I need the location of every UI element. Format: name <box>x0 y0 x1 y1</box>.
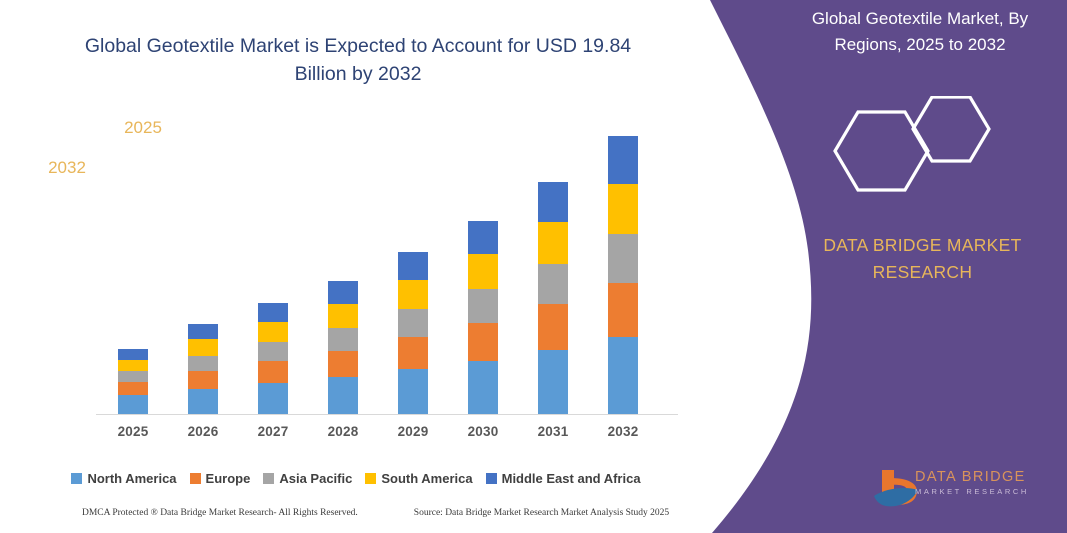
bar-segment[interactable] <box>328 328 358 352</box>
legend-swatch-icon <box>365 473 376 484</box>
bar-segment[interactable] <box>118 395 148 414</box>
bar-segment[interactable] <box>118 382 148 395</box>
x-axis-label-2027: 2027 <box>238 424 308 439</box>
bar-segment[interactable] <box>468 254 498 289</box>
bar-segment[interactable] <box>188 389 218 414</box>
legend-swatch-icon <box>190 473 201 484</box>
bar-segment[interactable] <box>538 222 568 264</box>
x-axis-label-2028: 2028 <box>308 424 378 439</box>
bar-segment[interactable] <box>398 337 428 369</box>
bar-segment[interactable] <box>608 337 638 414</box>
legend-item[interactable]: Asia Pacific <box>263 471 352 486</box>
bar-segment[interactable] <box>538 264 568 304</box>
legend-label: Asia Pacific <box>279 471 352 486</box>
bar-segment[interactable] <box>328 377 358 414</box>
infographic-slide: Global Geotextile Market is Expected to … <box>0 0 1067 533</box>
legend-swatch-icon <box>71 473 82 484</box>
bar-column-2026[interactable] <box>188 324 218 414</box>
bar-column-2031[interactable] <box>538 182 568 414</box>
bar-segment[interactable] <box>328 281 358 304</box>
bar-segment[interactable] <box>118 371 148 382</box>
logo-subtitle: MARKET RESEARCH <box>915 486 1050 498</box>
bar-segment[interactable] <box>398 309 428 337</box>
x-axis-label-2032: 2032 <box>588 424 658 439</box>
bar-segment[interactable] <box>398 252 428 280</box>
bar-segment[interactable] <box>608 283 638 338</box>
legend-label: Middle East and Africa <box>502 471 641 486</box>
bar-column-2028[interactable] <box>328 281 358 414</box>
bar-segment[interactable] <box>608 234 638 282</box>
bar-segment[interactable] <box>468 221 498 254</box>
brand-name: DATA BRIDGE MARKET RESEARCH <box>800 232 1045 286</box>
bar-segment[interactable] <box>118 360 148 371</box>
legend-label: North America <box>87 471 176 486</box>
legend-swatch-icon <box>263 473 274 484</box>
x-axis-label-2029: 2029 <box>378 424 448 439</box>
x-axis-label-2025: 2025 <box>98 424 168 439</box>
bar-segment[interactable] <box>328 351 358 377</box>
bar-column-2025[interactable] <box>118 349 148 414</box>
footer: DMCA Protected ® Data Bridge Market Rese… <box>0 508 700 518</box>
bar-segment[interactable] <box>188 356 218 372</box>
bar-segment[interactable] <box>188 371 218 388</box>
hexagon-2032-icon <box>835 112 928 190</box>
bar-column-2030[interactable] <box>468 221 498 414</box>
page-title: Global Geotextile Market is Expected to … <box>58 32 658 88</box>
bar-segment[interactable] <box>118 349 148 359</box>
x-axis-label-2031: 2031 <box>518 424 588 439</box>
bar-segment[interactable] <box>258 322 288 342</box>
legend-label: South America <box>381 471 472 486</box>
legend-item[interactable]: North America <box>71 471 176 486</box>
logo-wordmark: DATA BRIDGE MARKET RESEARCH <box>915 469 1050 498</box>
bar-segment[interactable] <box>188 339 218 355</box>
footer-copyright: DMCA Protected ® Data Bridge Market Rese… <box>82 508 358 518</box>
logo-title: DATA BRIDGE <box>915 469 1050 486</box>
x-axis-label-2030: 2030 <box>448 424 518 439</box>
bar-segment[interactable] <box>468 323 498 361</box>
bar-segment[interactable] <box>468 289 498 323</box>
legend-item[interactable]: Middle East and Africa <box>486 471 641 486</box>
bar-column-2027[interactable] <box>258 303 288 414</box>
legend-item[interactable]: South America <box>365 471 472 486</box>
bar-segment[interactable] <box>258 361 288 383</box>
bar-segment[interactable] <box>258 383 288 414</box>
bar-segment[interactable] <box>468 361 498 414</box>
bar-segment[interactable] <box>188 324 218 339</box>
bar-segment[interactable] <box>258 303 288 322</box>
bar-column-2032[interactable] <box>608 136 638 414</box>
bar-segment[interactable] <box>608 184 638 235</box>
x-axis-label-2026: 2026 <box>168 424 238 439</box>
chart-legend: North AmericaEuropeAsia PacificSouth Ame… <box>0 471 712 486</box>
bar-segment[interactable] <box>538 304 568 350</box>
bar-segment[interactable] <box>538 182 568 222</box>
side-panel-title: Global Geotextile Market, By Regions, 20… <box>795 6 1045 58</box>
bar-segment[interactable] <box>538 350 568 414</box>
bar-segment[interactable] <box>398 280 428 310</box>
hexagon-2025-icon <box>913 97 989 161</box>
bar-segment[interactable] <box>398 369 428 414</box>
footer-source: Source: Data Bridge Market Research Mark… <box>414 508 669 518</box>
hexagon-badges <box>815 96 1025 206</box>
stacked-bar-chart-plot <box>96 120 676 415</box>
bar-segment[interactable] <box>608 136 638 184</box>
hexagon-2025-label: 2025 <box>98 118 188 138</box>
bar-segment[interactable] <box>328 304 358 328</box>
bar-column-2029[interactable] <box>398 252 428 414</box>
legend-swatch-icon <box>486 473 497 484</box>
hexagon-outline-icons <box>815 96 1025 206</box>
x-axis-line <box>96 414 678 415</box>
legend-label: Europe <box>206 471 251 486</box>
bar-segment[interactable] <box>258 342 288 361</box>
legend-item[interactable]: Europe <box>190 471 251 486</box>
hexagon-2032-label: 2032 <box>22 158 112 178</box>
chart-panel: Global Geotextile Market is Expected to … <box>0 0 712 533</box>
